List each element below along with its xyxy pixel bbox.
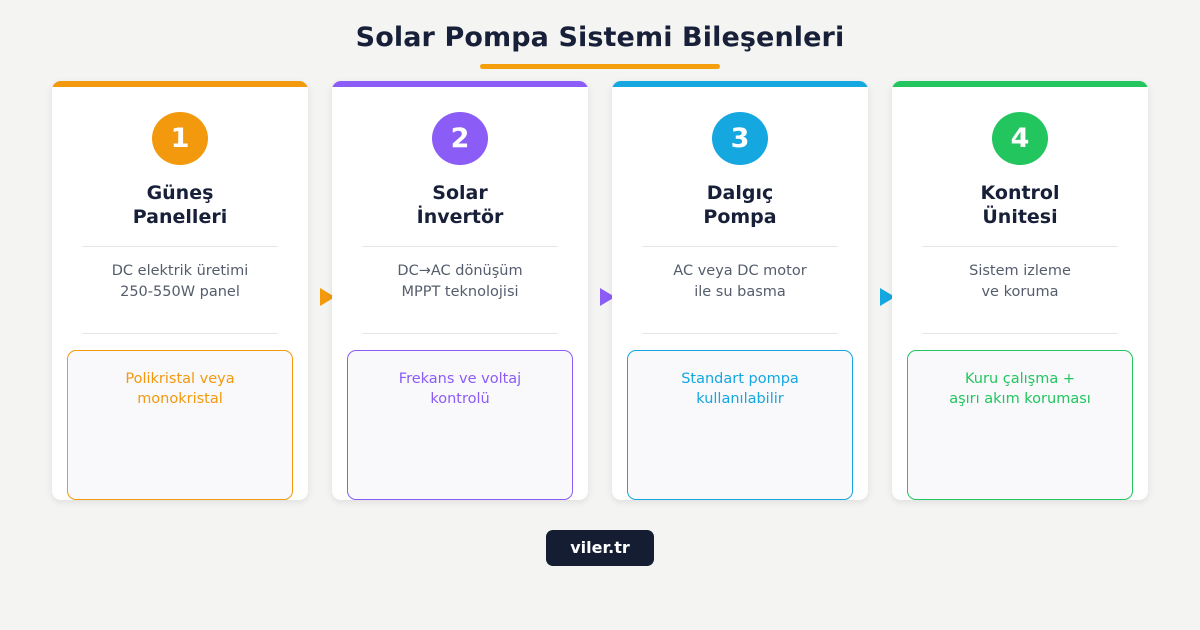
card-divider-bottom: [922, 333, 1118, 334]
card-slot-3: 3 Dalgıç Pompa AC veya DC motor ile su b…: [612, 81, 868, 500]
card-highlight-text: Standart pompa kullanılabilir: [628, 369, 852, 410]
footer: viler.tr: [0, 530, 1200, 566]
title-underline: [480, 64, 720, 69]
component-card-3[interactable]: 3 Dalgıç Pompa AC veya DC motor ile su b…: [612, 81, 868, 500]
card-accent-bar: [612, 81, 868, 87]
card-slot-2: 2 Solar İnvertör DC→AC dönüşüm MPPT tekn…: [332, 81, 588, 500]
infographic-page: Solar Pompa Sistemi Bileşenleri 1 Güneş …: [0, 0, 1200, 630]
step-number-badge: 1: [152, 112, 208, 165]
card-accent-bar: [892, 81, 1148, 87]
card-highlight-text: Kuru çalışma + aşırı akım koruması: [908, 369, 1132, 410]
card-title: Kontrol Ünitesi: [981, 181, 1060, 230]
card-divider-bottom: [82, 333, 278, 334]
component-cards-row: 1 Güneş Panelleri DC elektrik üretimi 25…: [52, 81, 1148, 500]
card-description: DC elektrik üretimi 250-550W panel: [112, 261, 248, 303]
page-title: Solar Pompa Sistemi Bileşenleri: [0, 22, 1200, 54]
card-divider-bottom: [362, 333, 558, 334]
card-title: Güneş Panelleri: [133, 181, 227, 230]
card-accent-bar: [332, 81, 588, 87]
card-highlight-box: Kuru çalışma + aşırı akım koruması: [907, 350, 1133, 500]
card-divider-bottom: [642, 333, 838, 334]
card-highlight-text: Frekans ve voltaj kontrolü: [348, 369, 572, 410]
card-accent-bar: [52, 81, 308, 87]
site-badge[interactable]: viler.tr: [546, 530, 653, 566]
card-highlight-box: Standart pompa kullanılabilir: [627, 350, 853, 500]
card-description: DC→AC dönüşüm MPPT teknolojisi: [397, 261, 522, 303]
card-divider-top: [82, 246, 278, 247]
card-slot-4: 4 Kontrol Ünitesi Sistem izleme ve korum…: [892, 81, 1148, 500]
card-highlight-box: Polikristal veya monokristal: [67, 350, 293, 500]
step-number-badge: 4: [992, 112, 1048, 165]
card-slot-1: 1 Güneş Panelleri DC elektrik üretimi 25…: [52, 81, 308, 500]
page-header: Solar Pompa Sistemi Bileşenleri: [0, 0, 1200, 69]
component-card-4[interactable]: 4 Kontrol Ünitesi Sistem izleme ve korum…: [892, 81, 1148, 500]
card-highlight-text: Polikristal veya monokristal: [68, 369, 292, 410]
card-divider-top: [922, 246, 1118, 247]
card-divider-top: [362, 246, 558, 247]
card-description: Sistem izleme ve koruma: [969, 261, 1071, 303]
step-number-badge: 3: [712, 112, 768, 165]
card-divider-top: [642, 246, 838, 247]
card-title: Solar İnvertör: [417, 181, 504, 230]
card-description: AC veya DC motor ile su basma: [673, 261, 806, 303]
step-number-badge: 2: [432, 112, 488, 165]
component-card-2[interactable]: 2 Solar İnvertör DC→AC dönüşüm MPPT tekn…: [332, 81, 588, 500]
card-highlight-box: Frekans ve voltaj kontrolü: [347, 350, 573, 500]
component-card-1[interactable]: 1 Güneş Panelleri DC elektrik üretimi 25…: [52, 81, 308, 500]
card-title: Dalgıç Pompa: [703, 181, 776, 230]
